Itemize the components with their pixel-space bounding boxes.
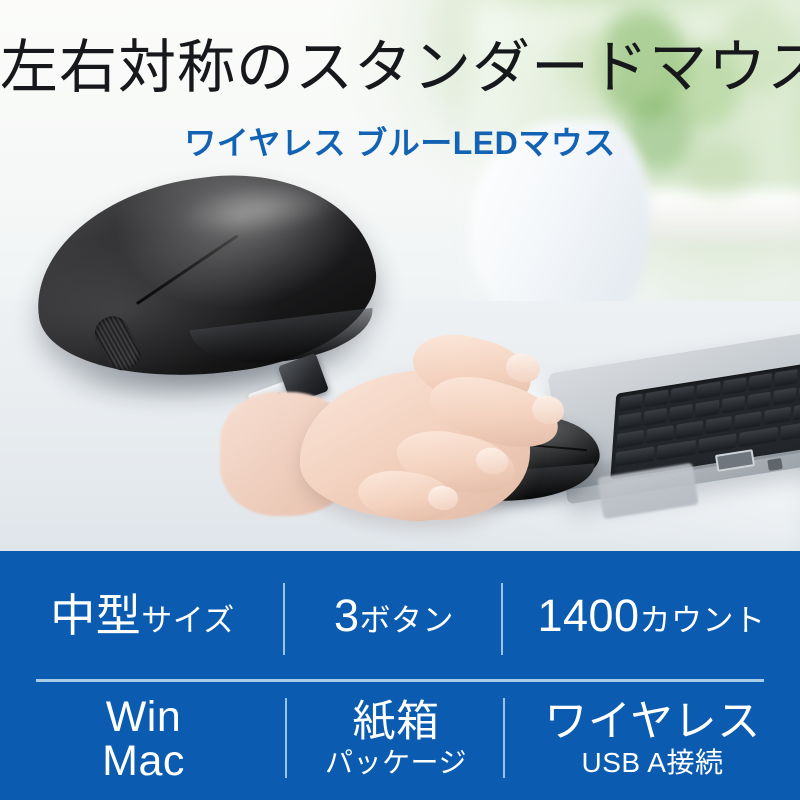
spec-os-line2: Mac [102, 740, 185, 784]
product-photo: 左右対称のスタンダードマウス ワイヤレス ブルーLEDマウス [0, 0, 800, 551]
keyboard-key [721, 396, 745, 414]
keyboard-key [669, 404, 693, 422]
keyboard-key [773, 387, 797, 405]
keyboard-key [696, 381, 720, 399]
spec-dpi-sub: カウント [640, 595, 766, 640]
spec-buttons-main: 3 [334, 592, 360, 640]
spec-dpi-text: 1400 カウント [537, 592, 765, 640]
spec-os-line1: Win [106, 696, 182, 740]
keyboard-key [748, 373, 772, 391]
spec-panel: 中型 サイズ 3 ボタン 1400 カウント [0, 551, 800, 800]
spec-dpi: 1400 カウント [503, 551, 800, 680]
keyboard-key [698, 433, 737, 453]
spec-dpi-main: 1400 [537, 592, 639, 640]
keyboard-key [793, 402, 800, 421]
product-banner: 左右対称のスタンダードマウス ワイヤレス ブルーLEDマウス 中型 サイズ 3 … [0, 0, 800, 800]
spec-package-line1: 紙箱 [353, 701, 440, 745]
keyboard-key [739, 427, 778, 447]
keyboard-key [671, 385, 695, 403]
headline: 左右対称のスタンダードマウス [0, 38, 800, 98]
keyboard-key [747, 392, 771, 410]
keyboard-key [695, 400, 719, 418]
spec-buttons-text: 3 ボタン [334, 592, 454, 640]
spec-buttons: 3 ボタン [285, 551, 503, 680]
subheadline: ワイヤレス ブルーLEDマウス [0, 118, 800, 164]
keyboard-key [644, 408, 668, 426]
keyboard-key [774, 369, 798, 387]
spec-row-primary: 中型 サイズ 3 ボタン 1400 カウント [0, 551, 800, 680]
spec-size-sub: サイズ [141, 595, 235, 640]
spec-package-line2: パッケージ [325, 747, 467, 778]
spec-package: 紙箱 パッケージ [287, 680, 505, 800]
keyboard-key [734, 411, 762, 430]
spec-size: 中型 サイズ [0, 551, 285, 680]
spec-connection-line1: ワイヤレス [544, 701, 760, 745]
keyboard-key [646, 425, 674, 444]
keyboard-key [764, 407, 792, 426]
keyboard-key [645, 390, 669, 408]
spec-size-main: 中型 [50, 592, 141, 640]
keyboard-key [722, 377, 746, 395]
spec-connection: ワイヤレス USB A接続 [505, 680, 800, 800]
keyboard-key [656, 440, 695, 460]
keyboard-key [705, 416, 733, 435]
keyboard-key [780, 420, 800, 440]
spec-size-text: 中型 サイズ [50, 592, 235, 640]
spec-os: Win Mac [0, 680, 287, 800]
laptop-aux-port [767, 458, 783, 471]
user-hand [300, 330, 630, 530]
keyboard-key [675, 421, 703, 440]
spec-connection-line2: USB A接続 [582, 747, 724, 778]
spec-buttons-sub: ボタン [360, 595, 455, 640]
spec-row-secondary: Win Mac 紙箱 パッケージ ワイヤレス USB A接続 [0, 680, 800, 800]
